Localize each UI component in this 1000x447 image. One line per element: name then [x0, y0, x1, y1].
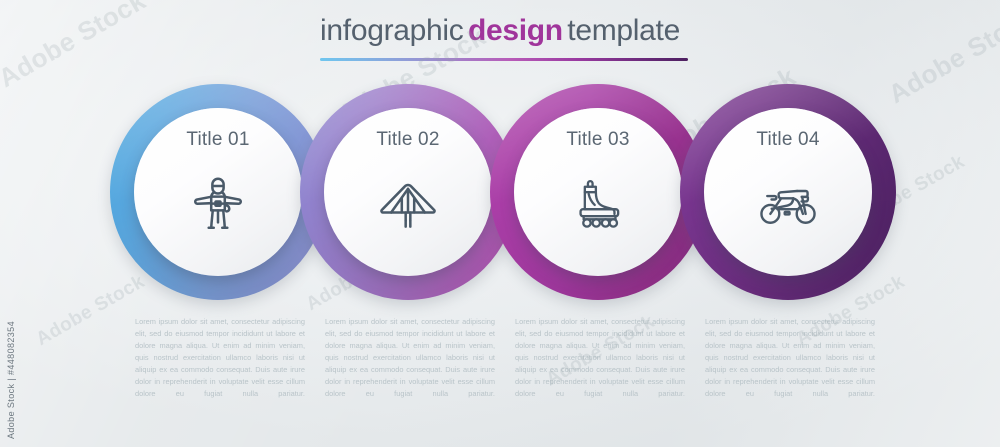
step-inner-disc-2[interactable]: Title 02 [324, 108, 492, 276]
step-node-1[interactable]: Title 01 [110, 84, 326, 300]
step-inner-disc-4[interactable]: Title 04 [704, 108, 872, 276]
step-inner-disc-3[interactable]: Title 03 [514, 108, 682, 276]
step-title-1: Title 01 [186, 130, 249, 149]
step-description-2: Lorem ipsum dolor sit amet, consectetur … [325, 316, 495, 412]
step-title-3: Title 03 [566, 130, 629, 149]
step-title-4: Title 04 [756, 130, 819, 149]
stock-id-label: Adobe Stock | #448082354 [6, 321, 16, 439]
step-node-2[interactable]: Title 02 [300, 84, 516, 300]
motorcycle-icon [750, 165, 826, 241]
skydiver-icon [180, 165, 256, 241]
step-node-3[interactable]: Title 03 [490, 84, 706, 300]
step-description-4: Lorem ipsum dolor sit amet, consectetur … [705, 316, 875, 412]
step-description-1: Lorem ipsum dolor sit amet, consectetur … [135, 316, 305, 412]
step-description-3: Lorem ipsum dolor sit amet, consectetur … [515, 316, 685, 412]
roller-skate-icon [560, 165, 636, 241]
infographic-canvas: infographic design template Title 01 [0, 0, 1000, 447]
step-inner-disc-1[interactable]: Title 01 [134, 108, 302, 276]
step-node-4[interactable]: Title 04 [680, 84, 896, 300]
step-title-2: Title 02 [376, 130, 439, 149]
hang-glider-icon [370, 165, 446, 241]
